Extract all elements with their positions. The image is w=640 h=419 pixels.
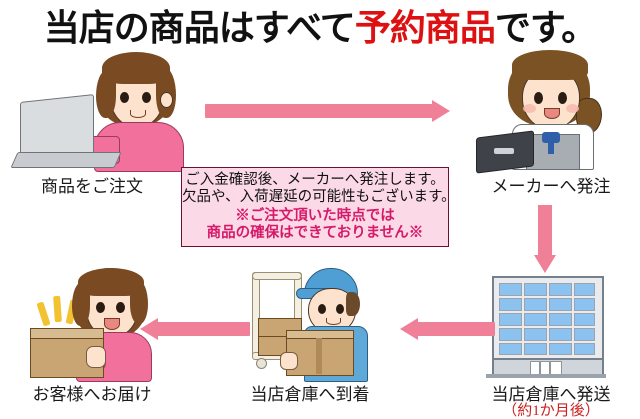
step-label-deliver-customer: お客様へお届け: [2, 380, 182, 405]
notice-box: ご入金確認後、メーカーへ発注します。 欠品や、入荷遅延の可能性もございます。 ※…: [181, 167, 449, 247]
notice-line-4: 商品の確保はできておりません※: [182, 225, 448, 242]
step-label-arrive-warehouse: 当店倉庫へ到着: [215, 380, 405, 405]
illustration-worker-with-box: [252, 268, 402, 380]
infographic-canvas: 当店の商品はすべて予約商品です。 商品をご注文: [0, 0, 640, 419]
title-text-after: です。: [495, 0, 596, 51]
illustration-woman-at-laptop: [10, 52, 185, 167]
illustration-operator-at-laptop: [478, 50, 628, 168]
arrow-right-down: [534, 205, 556, 273]
sparkle-icon: [36, 302, 50, 327]
notice-line-2: 欠品や、入荷遅延の可能性もございます。: [182, 189, 448, 206]
notice-line-3: ※ご注文頂いた時点では: [182, 208, 448, 225]
step-sublabel-ship-duration: （約1か月後）: [462, 399, 640, 419]
arrow-top-right: [205, 100, 450, 122]
arrow-bottom-left: [140, 318, 250, 340]
illustration-office-building: [486, 276, 606, 380]
sparkle-icon: [53, 296, 62, 322]
page-title: 当店の商品はすべて予約商品です。: [0, 2, 640, 48]
title-text-highlight: 予約商品: [355, 0, 495, 51]
title-text-before: 当店の商品はすべて: [44, 0, 355, 51]
illustration-customer-with-box: [12, 268, 152, 380]
step-label-order: 商品をご注文: [8, 172, 176, 197]
step-label-order-to-maker: メーカーへ発注: [462, 172, 640, 197]
arrow-bottom-mid-left: [400, 318, 495, 340]
notice-line-1: ご入金確認後、メーカーへ発注します。: [182, 172, 448, 189]
